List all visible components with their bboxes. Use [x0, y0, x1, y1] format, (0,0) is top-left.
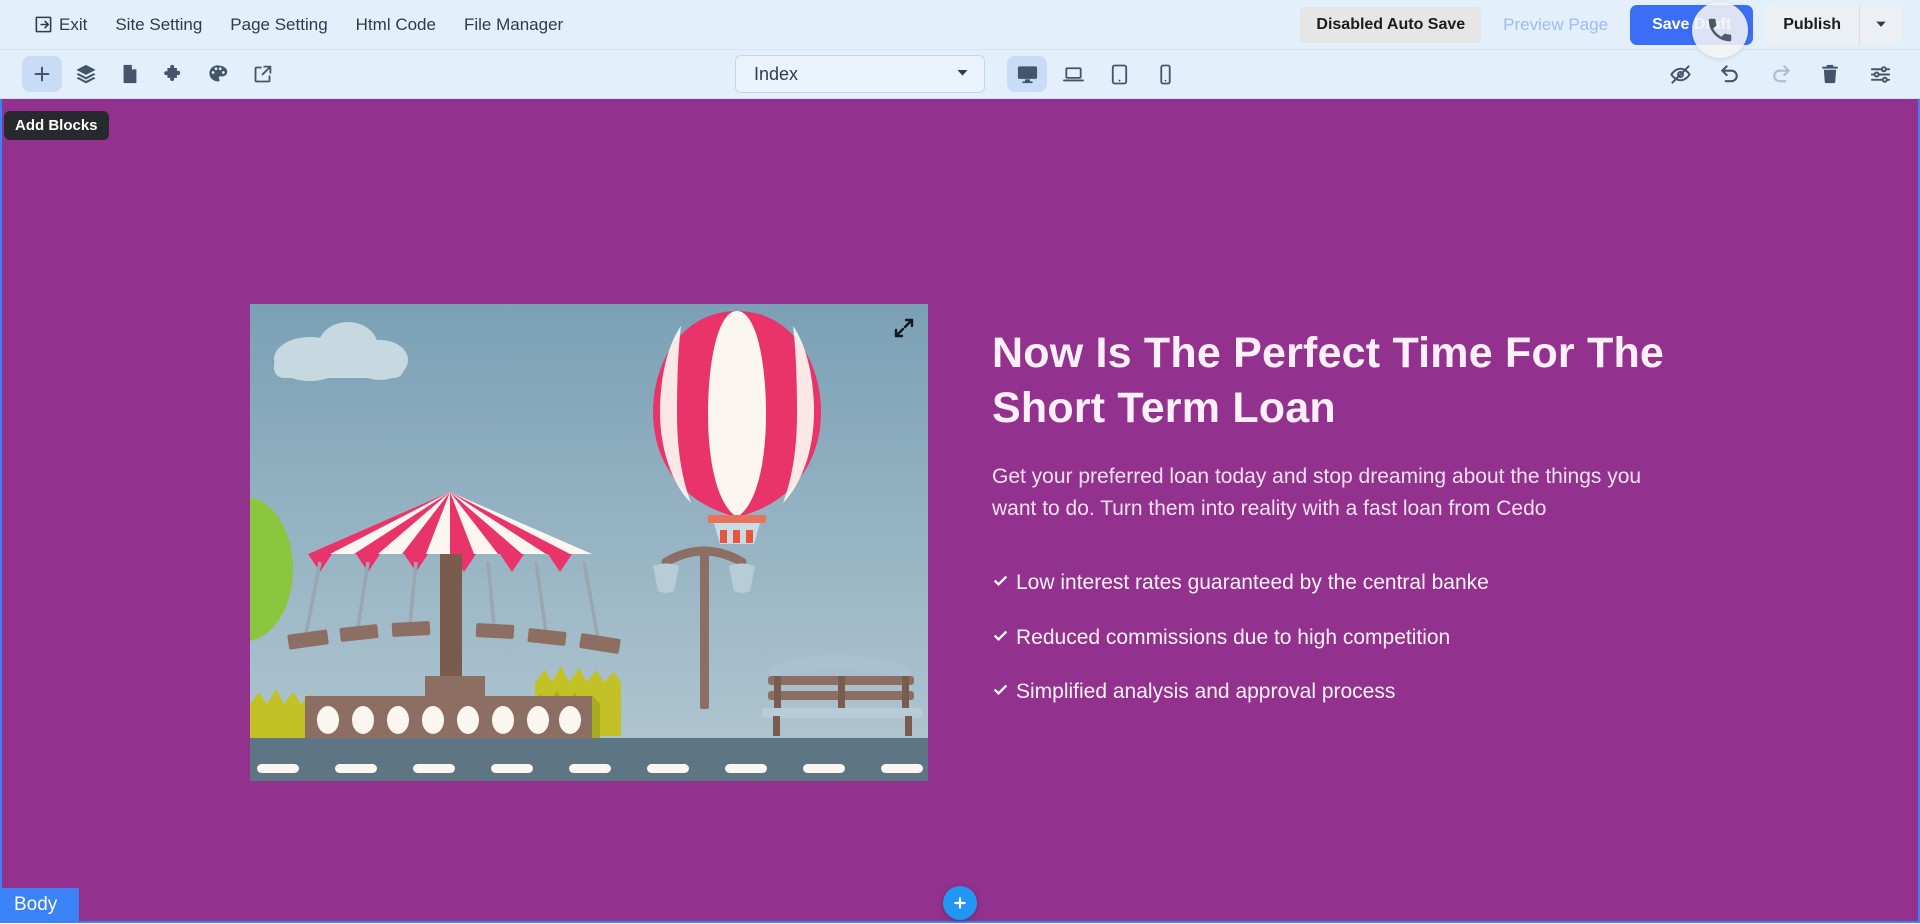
menu-item-html-code-label: Html Code — [356, 15, 436, 35]
add-blocks-button[interactable] — [22, 56, 62, 92]
hero-illustration — [250, 304, 928, 781]
hero-subtitle: Get your preferred loan today and stop d… — [992, 461, 1680, 524]
add-blocks-tooltip: Add Blocks — [4, 111, 109, 140]
menu-item-page-setting[interactable]: Page Setting — [216, 9, 341, 41]
autosave-status-badge[interactable]: Disabled Auto Save — [1300, 7, 1481, 43]
menu-item-html-code[interactable]: Html Code — [342, 9, 450, 41]
redo-button[interactable] — [1760, 56, 1800, 92]
main-menu: Exit Site Setting Page Setting Html Code… — [34, 9, 577, 41]
selected-element-tag[interactable]: Body — [0, 888, 79, 923]
publish-dropdown-button[interactable] — [1859, 5, 1902, 45]
device-desktop-button[interactable] — [1007, 56, 1047, 92]
puzzle-icon — [163, 63, 185, 85]
list-item-label: Simplified analysis and approval process — [1016, 677, 1395, 706]
theme-button[interactable] — [198, 56, 238, 92]
exit-icon — [34, 15, 53, 34]
plus-icon — [952, 895, 968, 911]
list-item-label: Low interest rates guaranteed by the cen… — [1016, 568, 1489, 597]
check-icon — [992, 682, 1009, 699]
toolbar-left-group — [0, 56, 282, 92]
menu-item-site-setting-label: Site Setting — [115, 15, 202, 35]
menu-item-file-manager[interactable]: File Manager — [450, 9, 577, 41]
list-item-label: Reduced commissions due to high competit… — [1016, 623, 1450, 652]
mobile-icon — [1154, 63, 1177, 86]
page-selector[interactable]: Index — [735, 55, 985, 93]
menu-item-site-setting[interactable]: Site Setting — [101, 9, 216, 41]
amusement-park-illustration — [250, 304, 928, 781]
list-item: Low interest rates guaranteed by the cen… — [992, 568, 1680, 597]
expand-arrows-icon[interactable] — [892, 316, 916, 340]
phone-icon — [1705, 15, 1735, 45]
publish-button-group: Publish — [1765, 5, 1902, 45]
pages-button[interactable] — [110, 56, 150, 92]
floating-call-widget[interactable] — [1692, 2, 1748, 58]
page-selector-value: Index — [754, 64, 798, 85]
page-canvas[interactable]: Add Blocks — [0, 99, 1920, 923]
laptop-icon — [1062, 63, 1085, 86]
toolbar-center-group: Index — [735, 55, 1185, 93]
top-menu-bar: Exit Site Setting Page Setting Html Code… — [0, 0, 1920, 50]
external-link-icon — [252, 64, 273, 85]
toolbar-right-group — [1660, 56, 1900, 92]
plus-icon — [31, 63, 53, 85]
hero-image-block[interactable] — [250, 304, 928, 781]
device-tablet-button[interactable] — [1099, 56, 1139, 92]
chevron-down-icon — [1874, 17, 1888, 34]
menu-item-exit[interactable]: Exit — [34, 9, 101, 41]
page-icon — [119, 63, 141, 85]
eye-off-icon — [1669, 63, 1692, 86]
toggle-visibility-button[interactable] — [1660, 56, 1700, 92]
chevron-down-icon — [955, 64, 970, 85]
hero-section[interactable]: Now Is The Perfect Time For The Short Te… — [250, 304, 1680, 781]
menu-item-page-setting-label: Page Setting — [230, 15, 327, 35]
tablet-icon — [1108, 63, 1131, 86]
hero-text-block[interactable]: Now Is The Perfect Time For The Short Te… — [992, 304, 1680, 731]
menu-item-file-manager-label: File Manager — [464, 15, 563, 35]
hero-feature-list: Low interest rates guaranteed by the cen… — [992, 568, 1680, 706]
trash-icon — [1819, 63, 1841, 85]
device-mobile-button[interactable] — [1145, 56, 1185, 92]
check-icon — [992, 573, 1009, 590]
settings-button[interactable] — [1860, 56, 1900, 92]
list-item: Simplified analysis and approval process — [992, 677, 1680, 706]
undo-icon — [1719, 63, 1742, 86]
top-bar-actions: Disabled Auto Save Preview Page Save Dra… — [1300, 0, 1902, 50]
preview-page-link[interactable]: Preview Page — [1481, 15, 1630, 35]
publish-button[interactable]: Publish — [1765, 5, 1859, 45]
editor-toolbar: Index — [0, 50, 1920, 99]
undo-button[interactable] — [1710, 56, 1750, 92]
device-laptop-button[interactable] — [1053, 56, 1093, 92]
layers-icon — [75, 63, 97, 85]
layers-button[interactable] — [66, 56, 106, 92]
open-external-button[interactable] — [242, 56, 282, 92]
device-preview-group — [1007, 56, 1185, 92]
delete-button[interactable] — [1810, 56, 1850, 92]
monitor-icon — [1016, 63, 1039, 86]
plugins-button[interactable] — [154, 56, 194, 92]
redo-icon — [1769, 63, 1792, 86]
add-section-button[interactable] — [943, 886, 977, 920]
palette-icon — [207, 63, 229, 85]
menu-item-exit-label: Exit — [59, 15, 87, 35]
sliders-icon — [1869, 63, 1892, 86]
check-icon — [992, 628, 1009, 645]
hero-title: Now Is The Perfect Time For The Short Te… — [992, 326, 1672, 435]
list-item: Reduced commissions due to high competit… — [992, 623, 1680, 652]
